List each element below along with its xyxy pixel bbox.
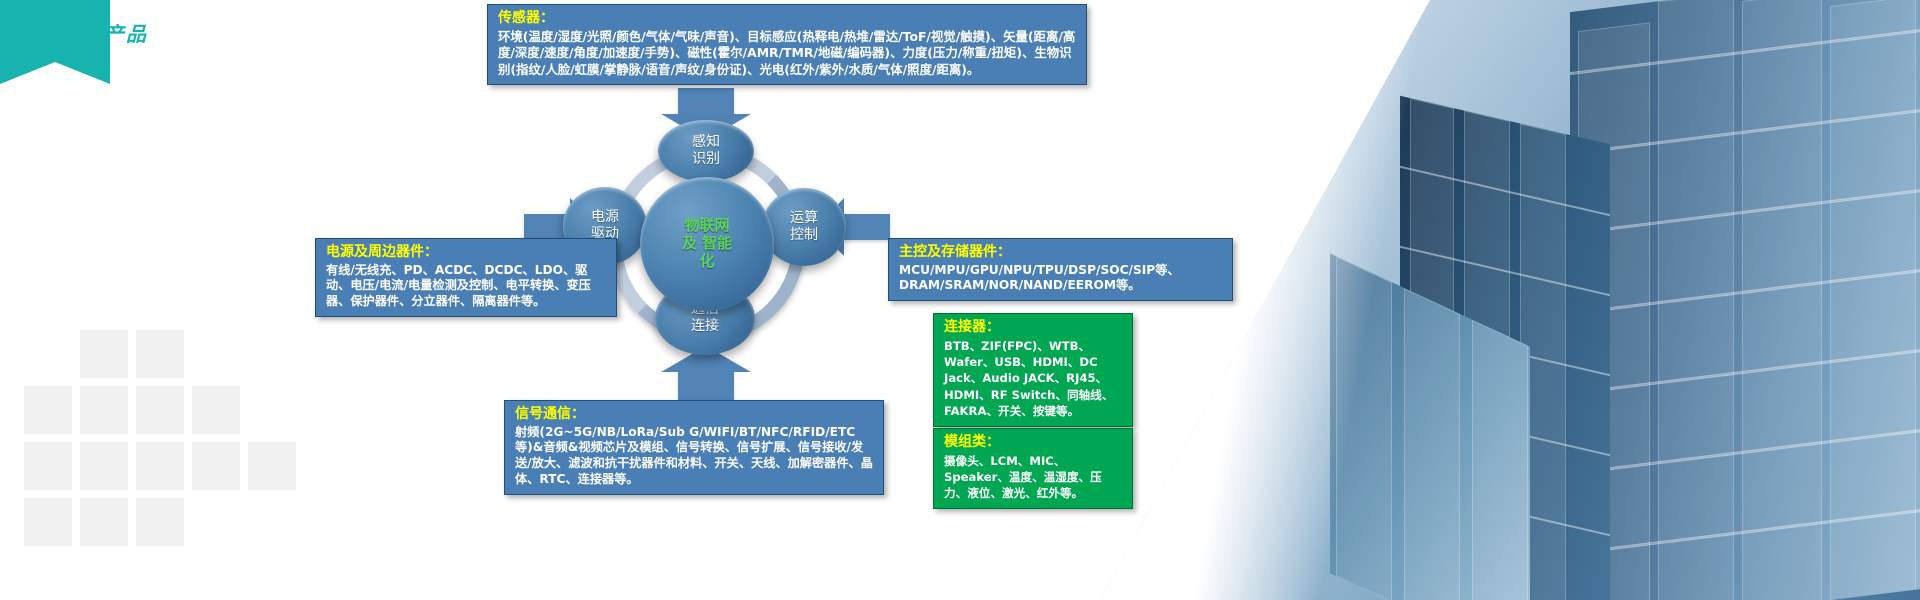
box-mcu-storage[interactable]: 主控及存储器件： MCU/MPU/GPU/NPU/TPU/DSP/SOC/SIP… [888, 238, 1233, 301]
box-module-body: 摄像头、LCM、MIC、Speaker、温度、温湿度、压力、液位、激光、红外等。 [944, 453, 1124, 502]
node-power-line1: 电源 [591, 209, 619, 225]
node-sense-line1: 感知 [692, 134, 720, 150]
node-compute-line2: 控制 [790, 227, 818, 243]
box-mcu-title: 主控及存储器件： [899, 244, 1224, 262]
box-connector-body: BTB、ZIF(FPC)、WTB、Wafer、USB、HDMI、DC Jack、… [944, 338, 1124, 420]
box-sensor[interactable]: 传感器： 环境(温度/湿度/光照/颜色/气体/气味/声音)、目标感应(热释电/热… [487, 4, 1087, 85]
box-module[interactable]: 模组类： 摄像头、LCM、MIC、Speaker、温度、温湿度、压力、液位、激光… [933, 428, 1133, 509]
node-comm-line2: 连接 [691, 318, 719, 334]
box-sensor-title: 传感器： [498, 10, 1078, 28]
box-power-body: 有线/无线充、PD、ACDC、DCDC、LDO、驱动、电压/电流/电量检测及控制… [326, 263, 608, 311]
box-signal-body: 射频(2G~5G/NB/LoRa/Sub G/WIFI/BT/NFC/RFID/… [515, 425, 875, 488]
box-connector[interactable]: 连接器： BTB、ZIF(FPC)、WTB、Wafer、USB、HDMI、DC … [933, 313, 1133, 427]
box-sensor-body: 环境(温度/湿度/光照/颜色/气体/气味/声音)、目标感应(热释电/热堆/雷达/… [498, 29, 1078, 79]
page-title: 核心产品 [60, 18, 148, 47]
arrow-mcu-to-compute [844, 214, 890, 240]
node-center-iot[interactable]: 物联网 及 智能 化 [640, 177, 774, 311]
center-line2: 及 智能 [682, 234, 732, 252]
node-compute-control[interactable]: 运算 控制 [762, 188, 846, 266]
arrow-signal-to-comm [678, 372, 734, 402]
box-signal-communication[interactable]: 信号通信： 射频(2G~5G/NB/LoRa/Sub G/WIFI/BT/NFC… [504, 400, 884, 495]
box-connector-title: 连接器： [944, 319, 1124, 337]
center-line1: 物联网 [684, 216, 729, 234]
iot-ecosystem-diagram: 感知 识别 电源 驱动 运算 控制 通信 连接 物联网 及 智能 化 传感器： … [0, 0, 1920, 600]
center-line3: 化 [699, 252, 714, 270]
node-compute-line1: 运算 [790, 210, 818, 226]
box-mcu-body: MCU/MPU/GPU/NPU/TPU/DSP/SOC/SIP等、DRAM/SR… [899, 263, 1224, 295]
arrow-sensor-to-sense [678, 88, 734, 114]
box-power-title: 电源及周边器件： [326, 244, 608, 262]
node-sense-recognize[interactable]: 感知 识别 [658, 120, 754, 182]
node-sense-line2: 识别 [692, 151, 720, 167]
box-module-title: 模组类： [944, 434, 1124, 452]
box-signal-title: 信号通信： [515, 406, 875, 424]
box-power-peripherals[interactable]: 电源及周边器件： 有线/无线充、PD、ACDC、DCDC、LDO、驱动、电压/电… [315, 238, 617, 317]
